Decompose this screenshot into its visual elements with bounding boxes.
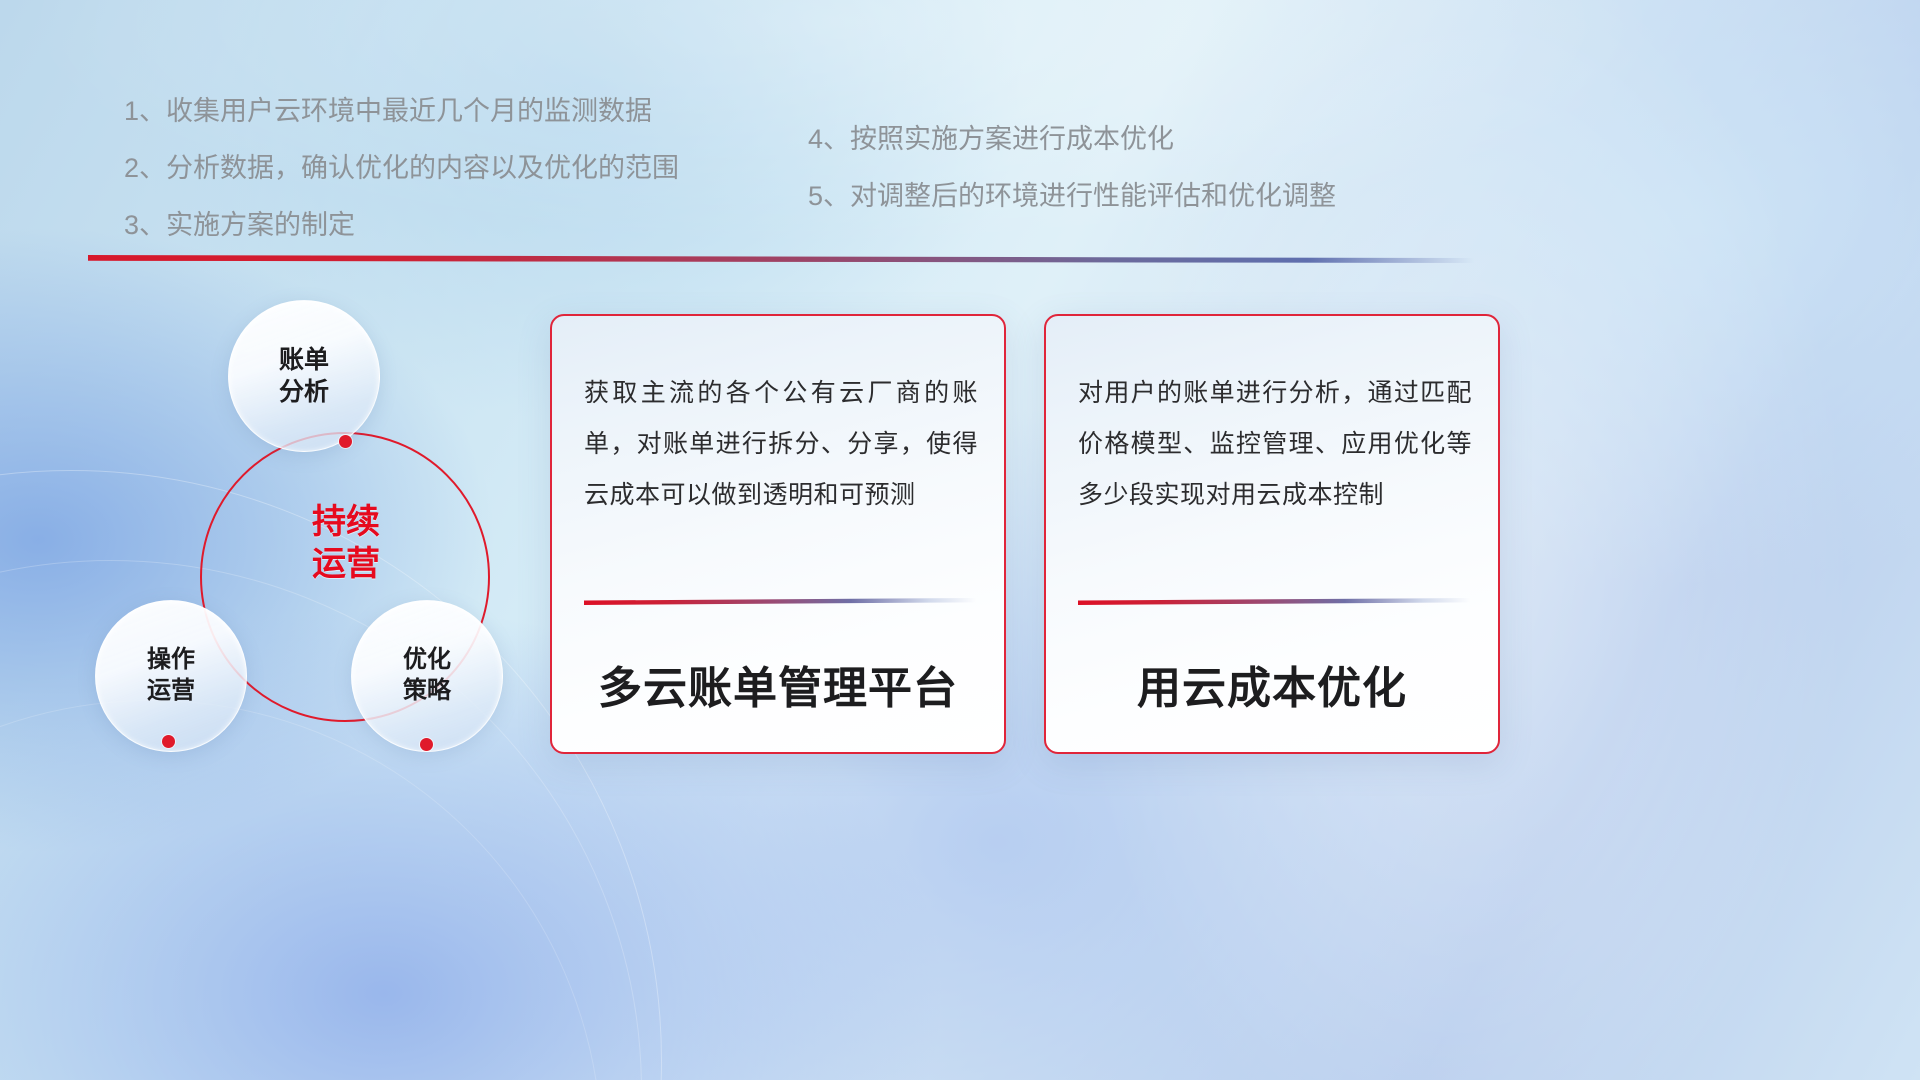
diagram-center-label: 持续 运营 (251, 488, 441, 598)
bubble-top-line-1: 账单 (279, 346, 329, 374)
card-1-body: 获取主流的各个公有云厂商的账单，对账单进行拆分、分享，使得云成本可以做到透明和可… (584, 368, 978, 520)
process-steps-left: 1、收集用户云环境中最近几个月的监测数据 2、分析数据，确认优化的内容以及优化的… (124, 98, 679, 269)
bubble-bl-line-1: 操作 (147, 646, 195, 673)
connector-node-bottom-left (162, 735, 175, 748)
center-label-line-2: 运营 (312, 545, 380, 583)
bubble-br-line-2: 策略 (403, 677, 451, 704)
card-2-body: 对用户的账单进行分析，通过匹配价格模型、监控管理、应用优化等多少段实现对用云成本… (1078, 368, 1472, 520)
process-step-5: 5、对调整后的环境进行性能评估和优化调整 (808, 183, 1336, 210)
process-steps-right: 4、按照实施方案进行成本优化 5、对调整后的环境进行性能评估和优化调整 (808, 126, 1336, 240)
bubble-br-line-1: 优化 (403, 646, 451, 673)
card-cloud-cost-optimization[interactable]: 对用户的账单进行分析，通过匹配价格模型、监控管理、应用优化等多少段实现对用云成本… (1044, 314, 1500, 754)
connector-node-bottom-right (420, 738, 433, 751)
card-multi-cloud-billing[interactable]: 获取主流的各个公有云厂商的账单，对账单进行拆分、分享，使得云成本可以做到透明和可… (550, 314, 1006, 754)
continuous-operations-diagram: 持续 运营 账单 分析 操作 运营 优化 策略 (86, 290, 526, 770)
bubble-bl-line-2: 运营 (147, 677, 195, 704)
card-1-title: 多云账单管理平台 (552, 652, 1004, 716)
process-step-1: 1、收集用户云环境中最近几个月的监测数据 (124, 98, 679, 125)
process-step-2: 2、分析数据，确认优化的内容以及优化的范围 (124, 155, 679, 182)
bubble-top-line-2: 分析 (279, 378, 329, 406)
center-label-line-1: 持续 (312, 503, 380, 541)
connector-node-top (339, 435, 352, 448)
card-2-title: 用云成本优化 (1046, 652, 1498, 716)
diagram-bubble-operations[interactable]: 操作 运营 (95, 600, 247, 752)
diagram-bubble-billing-analysis[interactable]: 账单 分析 (228, 300, 380, 452)
card-2-divider (1078, 598, 1470, 605)
process-step-4: 4、按照实施方案进行成本优化 (808, 126, 1336, 153)
diagram-bubble-optimization-strategy[interactable]: 优化 策略 (351, 600, 503, 752)
card-1-divider (584, 598, 976, 605)
process-step-3: 3、实施方案的制定 (124, 212, 679, 239)
